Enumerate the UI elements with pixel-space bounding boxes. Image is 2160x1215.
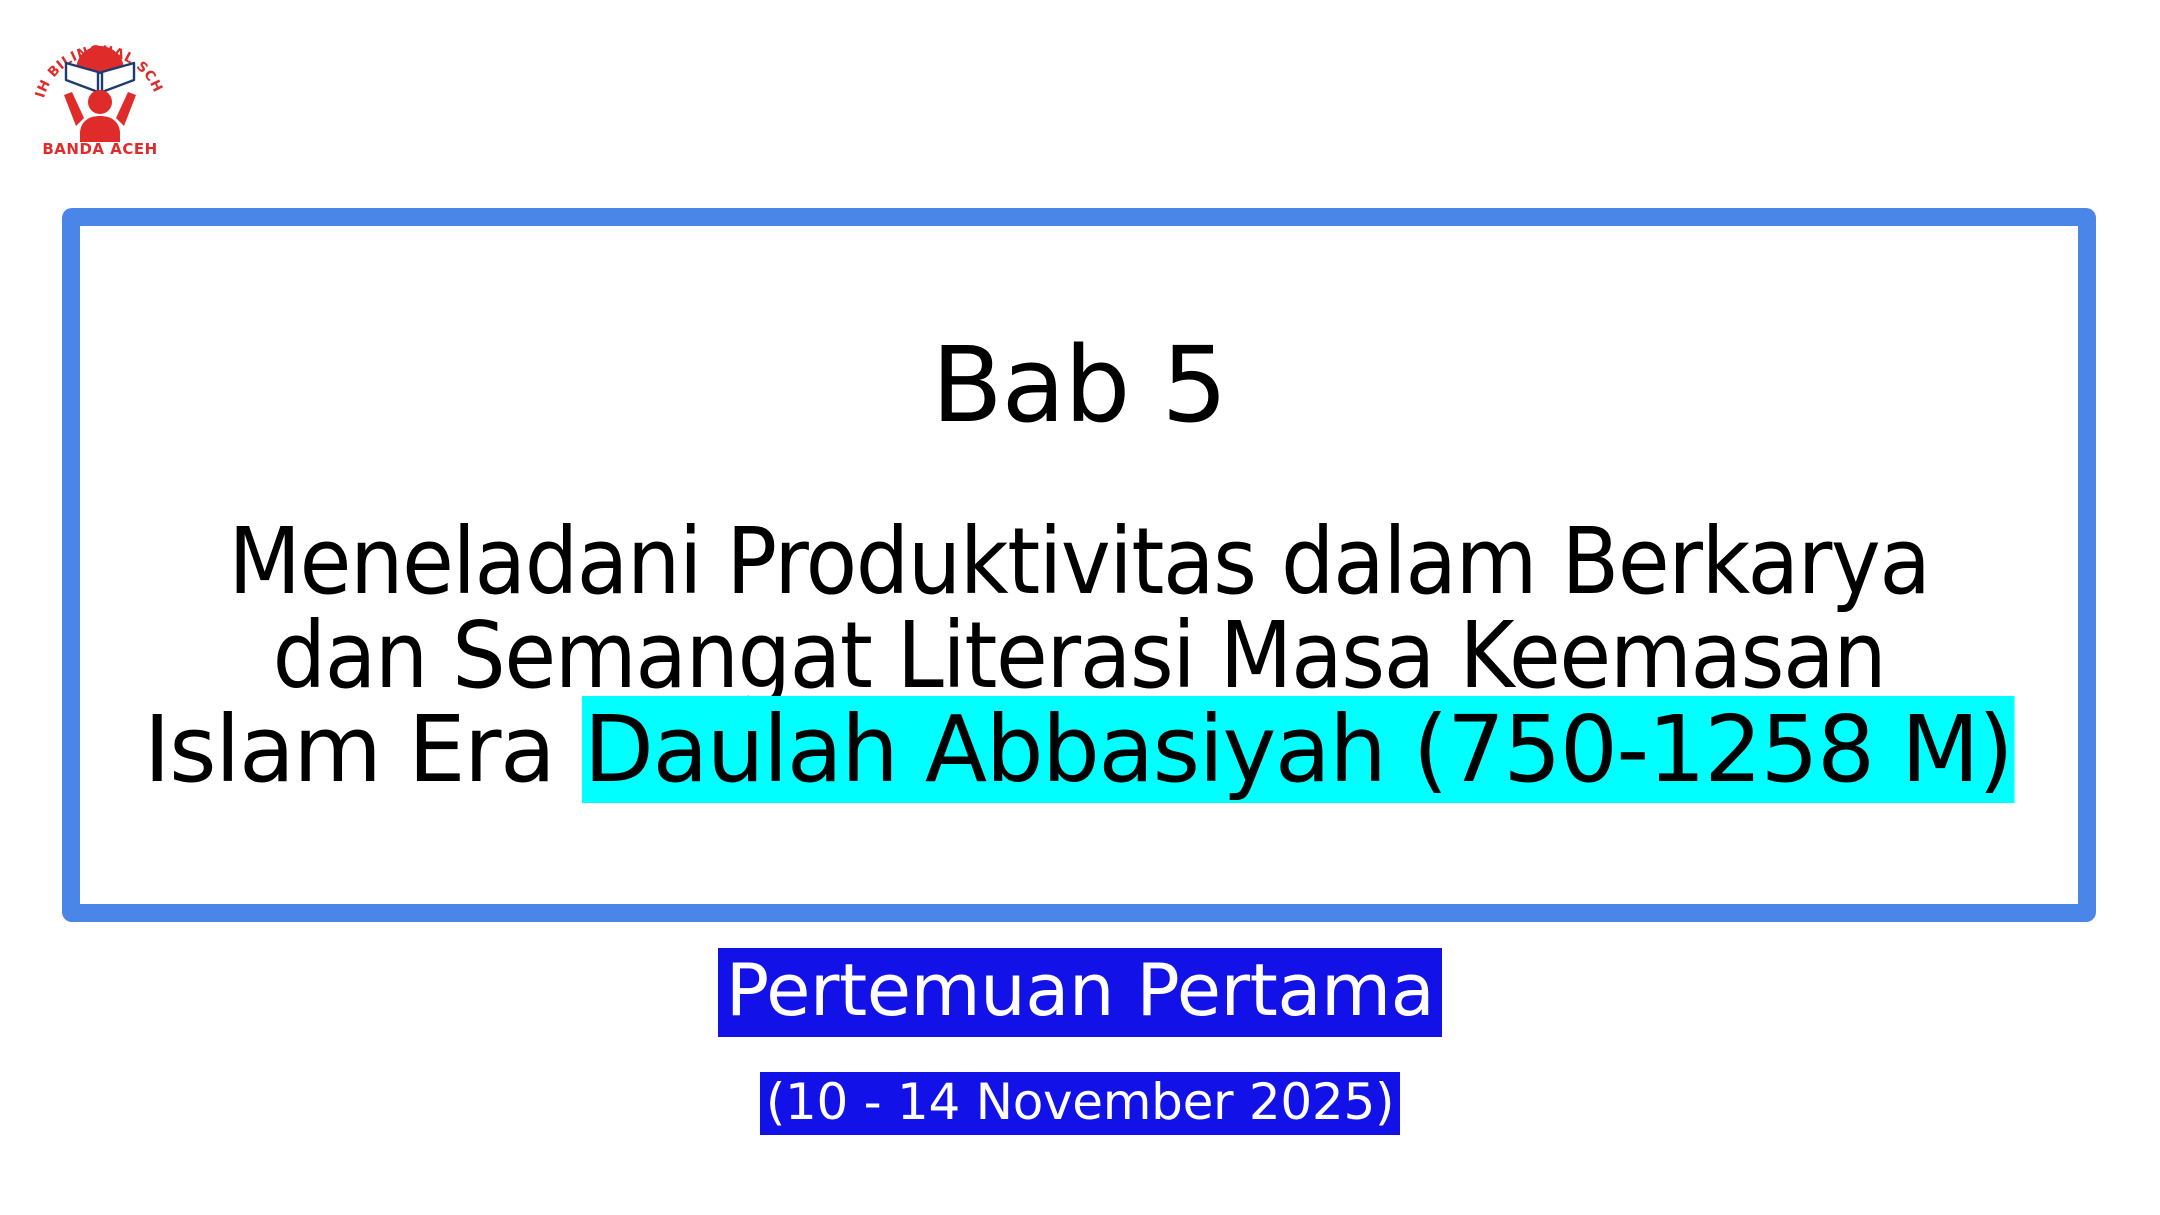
- logo-figure-right-arm: [116, 92, 136, 126]
- logo-figure-left-arm: [64, 92, 84, 126]
- meeting-date-row: (10 - 14 November 2025): [0, 1072, 2160, 1135]
- logo-bottom-text: BANDA ACEH: [42, 140, 157, 156]
- school-logo: FATIH BILINGUAL SCHOOL BANDA ACEH: [28, 6, 172, 156]
- chapter-title-line-3: Islam Era Daulah Abbasiyah (750-1258 M): [90, 703, 2068, 797]
- meeting-label-row: Pertemuan Pertama: [0, 948, 2160, 1037]
- chapter-number: Bab 5: [931, 333, 1226, 437]
- meeting-date: (10 - 14 November 2025): [760, 1072, 1400, 1135]
- chapter-title-line-2: dan Semangat Literasi Masa Keemasan: [165, 609, 1993, 703]
- title-content: Bab 5 Meneladani Produktivitas dalam Ber…: [80, 226, 2078, 904]
- chapter-title-line-3-plain: Islam Era: [144, 696, 582, 803]
- school-logo-graphic: FATIH BILINGUAL SCHOOL BANDA ACEH: [28, 6, 172, 156]
- chapter-title-line-1: Meneladani Produktivitas dalam Berkarya: [165, 515, 1993, 609]
- logo-figure-head: [88, 90, 112, 114]
- logo-figure-body: [80, 116, 120, 142]
- chapter-title-line-3-highlight: Daulah Abbasiyah (750-1258 M): [582, 696, 2014, 803]
- meeting-label: Pertemuan Pertama: [718, 948, 1443, 1037]
- title-frame-box: Bab 5 Meneladani Produktivitas dalam Ber…: [62, 208, 2096, 922]
- chapter-title: Meneladani Produktivitas dalam Berkarya …: [80, 515, 2078, 796]
- logo-book-spine: [98, 72, 102, 73]
